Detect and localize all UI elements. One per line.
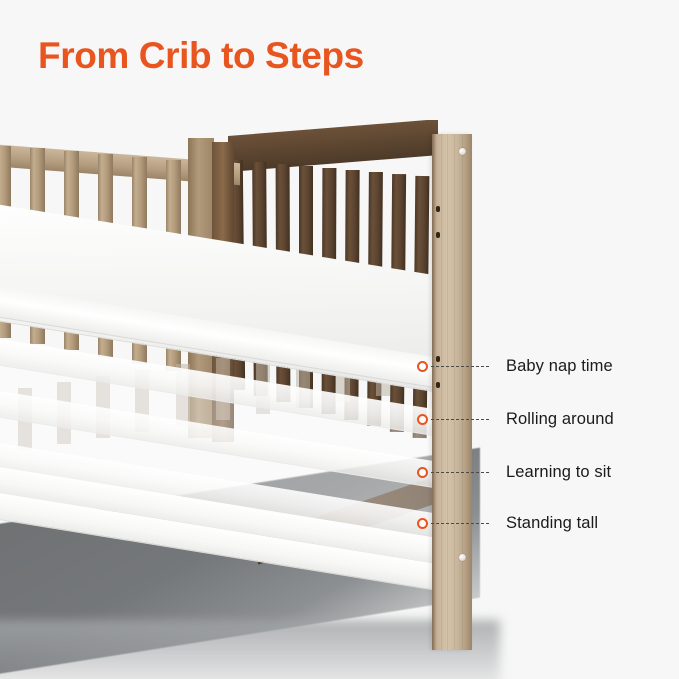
post-grain-line <box>447 134 448 650</box>
post-grain-line <box>454 134 455 650</box>
callout-rolling-around[interactable]: Rolling around <box>417 409 614 429</box>
circle-marker-icon <box>417 518 428 529</box>
callout-learning-to-sit[interactable]: Learning to sit <box>417 462 611 482</box>
floor-shadow-fade <box>0 620 500 679</box>
leader-line <box>431 523 489 524</box>
post-screw-cap-icon <box>459 554 466 561</box>
leader-line <box>431 419 489 420</box>
post-peg-hole <box>436 382 440 388</box>
circle-marker-icon <box>417 467 428 478</box>
callout-label: Rolling around <box>506 410 614 429</box>
page-title: From Crib to Steps <box>38 36 364 77</box>
callout-label: Baby nap time <box>506 357 613 376</box>
callout-label: Standing tall <box>506 514 598 533</box>
callout-baby-nap-time[interactable]: Baby nap time <box>417 356 613 376</box>
crib-corner-post <box>432 134 472 650</box>
post-peg-hole <box>436 206 440 212</box>
post-screw-cap-icon <box>459 148 466 155</box>
post-grain-line <box>462 134 463 650</box>
crib-photo <box>0 120 679 679</box>
leader-line <box>431 366 489 367</box>
callout-label: Learning to sit <box>506 463 611 482</box>
post-grain-line <box>441 134 442 650</box>
infographic-canvas: From Crib to Steps <box>0 0 679 679</box>
circle-marker-icon <box>417 414 428 425</box>
leader-line <box>431 472 489 473</box>
post-edge-shade <box>432 134 436 650</box>
post-peg-hole <box>436 232 440 238</box>
callout-standing-tall[interactable]: Standing tall <box>417 513 598 533</box>
circle-marker-icon <box>417 361 428 372</box>
